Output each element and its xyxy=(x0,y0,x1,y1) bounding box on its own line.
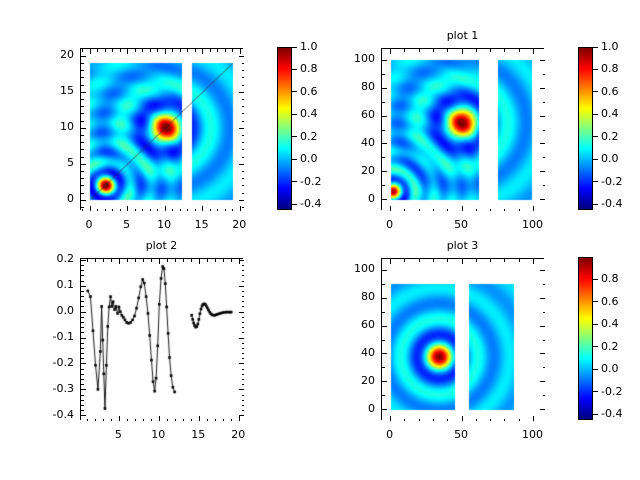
plot1-cbar-ticklabel: -0.2 xyxy=(601,175,622,188)
plot3-title: plot 3 xyxy=(381,239,544,252)
plot2-plot-area xyxy=(81,259,244,421)
plot2-ytick xyxy=(242,265,245,266)
plot2-ytick xyxy=(242,281,245,282)
plot0-xtick xyxy=(90,49,91,54)
plot2-ytick xyxy=(81,343,84,344)
plot1-xtick xyxy=(476,49,477,52)
plot0-xtick xyxy=(217,49,218,52)
plot1-axes xyxy=(381,48,544,210)
plot2-xtick xyxy=(103,419,104,422)
plot1-cbar-ticklabel: 1.0 xyxy=(601,40,619,53)
plot3-xtick xyxy=(390,416,391,421)
plot0-ytick xyxy=(242,85,245,86)
plot1-yticklabel: 80 xyxy=(333,80,375,93)
plot3-cbar-tick xyxy=(593,346,598,347)
plot2-ytick xyxy=(81,348,84,349)
plot0-xticklabel: 20 xyxy=(214,218,264,231)
plot2-ytick xyxy=(242,317,245,318)
plot0-cbar-ticklabel: 0.8 xyxy=(300,62,318,75)
plot3-yticklabel: 0 xyxy=(333,402,375,415)
plot2-ytick xyxy=(81,358,84,359)
plot1-xtick xyxy=(462,49,463,54)
plot3-ytick xyxy=(543,340,546,341)
plot3-ytick xyxy=(540,326,545,327)
plot0-cbar-ticklabel: 1.0 xyxy=(300,40,318,53)
plot1-plot-area xyxy=(382,49,545,211)
plot0-cbar-ticklabel: 0.6 xyxy=(300,85,318,98)
plot2-ytick xyxy=(81,374,84,375)
plot3-ytick xyxy=(382,312,385,313)
plot2-ytick xyxy=(239,312,244,313)
plot3-ytick xyxy=(540,409,545,410)
plot0-ytick xyxy=(242,193,245,194)
plot1-cbar-ticklabel: 0.2 xyxy=(601,130,619,143)
plot0-xtick xyxy=(82,209,83,212)
plot3-xtick xyxy=(533,259,534,264)
plot0-ytick xyxy=(81,63,84,64)
plot2-xtick xyxy=(199,416,200,421)
plot0-xtick xyxy=(82,49,83,52)
plot2-ytick xyxy=(242,306,245,307)
plot0-ytick xyxy=(239,200,244,201)
plot2-xtick xyxy=(231,259,232,262)
plot0-cbar-tick xyxy=(292,47,297,48)
plot1-xtick xyxy=(490,49,491,52)
plot1-xticklabel: 0 xyxy=(365,218,415,231)
plot2-xtick xyxy=(191,259,192,262)
plot2-ytick xyxy=(81,353,84,354)
plot0-cbar-ticklabel: 0.2 xyxy=(300,130,318,143)
plot1-ytick xyxy=(382,130,385,131)
plot2-ytick xyxy=(81,301,84,302)
plot2-ytick xyxy=(239,338,244,339)
plot2-xtick xyxy=(103,259,104,262)
plot0-xtick xyxy=(195,209,196,212)
plot0-xtick xyxy=(225,209,226,212)
plot1-cbar-ticklabel: 0.0 xyxy=(601,152,619,165)
plot3-ytick xyxy=(540,298,545,299)
plot0-xtick xyxy=(142,49,143,52)
plot2-ytick xyxy=(242,358,245,359)
plot2-xtick xyxy=(239,416,240,421)
plot2-ytick xyxy=(239,415,244,416)
plot1-ytick xyxy=(382,171,387,172)
plot2-ytick xyxy=(81,306,84,307)
plot2-xtick xyxy=(183,259,184,262)
plot0-xtick xyxy=(157,49,158,52)
plot1-xtick xyxy=(504,49,505,52)
plot2-ytick xyxy=(242,332,245,333)
plot1-cbar-tick xyxy=(593,69,598,70)
plot2-ytick xyxy=(242,374,245,375)
plot2-xtick xyxy=(207,419,208,422)
plot0-xtick xyxy=(187,49,188,52)
plot0-xtick xyxy=(202,206,203,211)
plot3-ytick xyxy=(382,353,387,354)
plot3-xtick xyxy=(447,419,448,422)
plot0-xtick xyxy=(120,49,121,52)
plot2-xticklabel: 20 xyxy=(213,428,263,441)
plot1-ytick xyxy=(540,116,545,117)
plot2-xtick xyxy=(111,259,112,262)
plot0-xtick xyxy=(105,49,106,52)
plot2-xtick xyxy=(87,259,88,262)
plot3-xticklabel: 0 xyxy=(365,428,415,441)
plot0-xtick xyxy=(195,49,196,52)
plot0-ytick xyxy=(242,70,245,71)
plot2-ytick xyxy=(81,389,86,390)
plot2-ytick xyxy=(81,379,84,380)
plot3-ytick xyxy=(543,367,546,368)
plot0-xtick xyxy=(90,206,91,211)
plot1-xtick xyxy=(504,209,505,212)
plot0-xtick xyxy=(112,49,113,52)
plot2-xtick xyxy=(151,419,152,422)
plot1-xtick xyxy=(404,209,405,212)
plot2-xtick xyxy=(143,419,144,422)
plot0-ytick xyxy=(242,99,245,100)
plot0-ytick xyxy=(242,157,245,158)
plot1-ytick xyxy=(540,143,545,144)
plot0-xtick xyxy=(240,206,241,211)
plot3-cbar-ticklabel: 0.6 xyxy=(601,295,619,308)
plot0-xtick xyxy=(150,209,151,212)
plot2-ytick xyxy=(81,400,84,401)
plot3-xtick xyxy=(504,259,505,262)
plot1-yticklabel: 0 xyxy=(333,192,375,205)
plot3-ytick xyxy=(382,409,387,410)
plot1-xtick xyxy=(390,206,391,211)
plot0-cbar-tick xyxy=(292,181,297,182)
plot0-yticklabel: 20 xyxy=(32,48,74,61)
plot0-xtick xyxy=(135,209,136,212)
plot3-ytick xyxy=(382,298,387,299)
plot0-xtick xyxy=(187,209,188,212)
plot0-ytick xyxy=(81,92,86,93)
plot2-yticklabel: -0.2 xyxy=(32,356,74,369)
plot0-cbar-tick xyxy=(292,159,297,160)
plot3-plot-area xyxy=(382,259,545,421)
plot2-yticklabel: 0.0 xyxy=(32,304,74,317)
plot2-xtick xyxy=(175,419,176,422)
plot2-xtick xyxy=(191,419,192,422)
plot0-ytick xyxy=(81,164,86,165)
plot0-xtick xyxy=(180,49,181,52)
plot0-ytick xyxy=(242,63,245,64)
plot1-xtick xyxy=(419,209,420,212)
plot1-xtick xyxy=(462,206,463,211)
plot2-xtick xyxy=(159,259,160,264)
plot0-xtick xyxy=(232,209,233,212)
plot0-cbar-tick xyxy=(292,204,297,205)
plot0-ytick xyxy=(81,56,86,57)
plot2-ytick xyxy=(242,405,245,406)
plot0-xtick xyxy=(142,209,143,212)
plot3-ytick xyxy=(382,367,385,368)
plot3-ytick xyxy=(543,284,546,285)
plot1-yticklabel: 40 xyxy=(333,136,375,149)
plot2-yticklabel: -0.4 xyxy=(32,408,74,421)
plot2-ytick xyxy=(242,384,245,385)
plot0-ytick xyxy=(239,92,244,93)
plot1-xtick xyxy=(533,206,534,211)
plot2-ytick xyxy=(242,275,245,276)
plot2-xtick xyxy=(127,259,128,262)
plot0-xtick xyxy=(165,206,166,211)
plot3-ytick xyxy=(382,340,385,341)
plot1-xtick xyxy=(490,209,491,212)
plot0-ytick xyxy=(242,77,245,78)
plot1-cbar-tick xyxy=(593,204,598,205)
plot0-ytick xyxy=(239,128,244,129)
plot0-ytick xyxy=(242,207,245,208)
plot1-xtick xyxy=(433,209,434,212)
plot3-xtick xyxy=(390,259,391,264)
plot2-ytick xyxy=(81,363,86,364)
plot1-ytick xyxy=(382,102,385,103)
plot0-cbar-ticklabel: -0.2 xyxy=(300,175,321,188)
plot2-ytick xyxy=(242,379,245,380)
plot1-xtick xyxy=(390,49,391,54)
plot0-ytick xyxy=(81,77,84,78)
plot0-ytick xyxy=(81,207,84,208)
plot2-ytick xyxy=(81,327,84,328)
plot0-xtick xyxy=(157,209,158,212)
plot2-ytick xyxy=(81,415,86,416)
plot2-xtick xyxy=(135,259,136,262)
plot0-cbar-ticklabel: 0.4 xyxy=(300,107,318,120)
plot1-colorbar xyxy=(578,47,593,210)
plot2-xtick xyxy=(167,259,168,262)
plot0-xtick xyxy=(135,49,136,52)
plot2-ytick xyxy=(242,301,245,302)
plot3-xtick xyxy=(490,259,491,262)
plot3-cbar-tick xyxy=(593,324,598,325)
plot0-xtick xyxy=(165,49,166,54)
plot0-ytick xyxy=(81,113,84,114)
plot2-xtick xyxy=(159,416,160,421)
plot0-ytick xyxy=(81,193,84,194)
plot1-xtick xyxy=(519,49,520,52)
plot0-xtick xyxy=(112,209,113,212)
plot2-ytick xyxy=(81,312,86,313)
plot2-xtick xyxy=(127,419,128,422)
plot3-cbar-ticklabel: 0.8 xyxy=(601,272,619,285)
plot2-ytick xyxy=(242,410,245,411)
plot1-xtick xyxy=(404,49,405,52)
plot1-ytick xyxy=(382,116,387,117)
plot0-ytick xyxy=(81,106,84,107)
plot2-ytick xyxy=(242,296,245,297)
plot2-xtick xyxy=(119,416,120,421)
plot3-xtick xyxy=(476,419,477,422)
plot2-ytick xyxy=(242,327,245,328)
plot3-xtick xyxy=(447,259,448,262)
plot0-ytick xyxy=(81,178,84,179)
plot0-xtick xyxy=(97,49,98,52)
plot0-ytick xyxy=(242,121,245,122)
plot1-ytick xyxy=(543,130,546,131)
plot2-xtick xyxy=(215,419,216,422)
plot0-cbar-tick xyxy=(292,114,297,115)
plot0-ytick xyxy=(242,185,245,186)
plot2-ytick xyxy=(81,410,84,411)
plot1-cbar-tick xyxy=(593,91,598,92)
plot1-ytick xyxy=(543,102,546,103)
plot0-cbar-tick xyxy=(292,136,297,137)
plot3-ytick xyxy=(382,381,387,382)
plot2-xtick xyxy=(231,419,232,422)
plot0-cbar-tick xyxy=(292,69,297,70)
plot2-ytick xyxy=(239,363,244,364)
plot0-xtick xyxy=(172,209,173,212)
plot2-ytick xyxy=(81,286,86,287)
plot2-xtick xyxy=(215,259,216,262)
plot1-cbar-tick xyxy=(593,159,598,160)
plot3-xtick xyxy=(462,259,463,264)
plot2-ytick xyxy=(81,291,84,292)
plot1-xtick xyxy=(433,49,434,52)
plot2-yticklabel: -0.3 xyxy=(32,382,74,395)
plot3-ytick xyxy=(382,270,387,271)
plot2-yticklabel: 0.2 xyxy=(32,252,74,265)
plot0-xtick xyxy=(172,49,173,52)
plot2-ytick xyxy=(81,265,84,266)
plot1-cbar-ticklabel: 0.6 xyxy=(601,85,619,98)
figure-canvas: 0510152005101520-0.4-0.20.00.20.40.60.81… xyxy=(0,0,640,480)
plot3-ytick xyxy=(540,381,545,382)
plot0-xtick xyxy=(120,209,121,212)
plot1-ytick xyxy=(382,157,385,158)
plot2-xtick xyxy=(223,259,224,262)
plot1-title: plot 1 xyxy=(381,29,544,42)
plot2-xtick xyxy=(223,419,224,422)
plot0-ytick xyxy=(81,200,86,201)
plot3-xtick xyxy=(433,259,434,262)
plot0-ytick xyxy=(242,113,245,114)
plot1-cbar-ticklabel: -0.4 xyxy=(601,197,622,210)
plot2-xtick xyxy=(175,259,176,262)
plot1-ytick xyxy=(540,88,545,89)
plot0-yticklabel: 0 xyxy=(32,192,74,205)
plot3-ytick xyxy=(382,395,385,396)
plot1-xtick xyxy=(419,49,420,52)
plot3-cbar-tick xyxy=(593,414,598,415)
plot1-ytick xyxy=(382,74,385,75)
plot0-xtick xyxy=(202,49,203,54)
plot3-colorbar-gradient xyxy=(579,258,592,419)
plot1-colorbar-gradient xyxy=(579,48,592,209)
plot1-yticklabel: 60 xyxy=(333,108,375,121)
plot2-ytick xyxy=(81,270,84,271)
plot0-ytick xyxy=(81,135,84,136)
plot3-ytick xyxy=(543,312,546,313)
plot1-ytick xyxy=(543,157,546,158)
plot2-ytick xyxy=(81,260,86,261)
plot2-axes xyxy=(80,258,243,420)
plot1-ytick xyxy=(543,74,546,75)
plot3-colorbar xyxy=(578,257,593,420)
plot2-xtick xyxy=(199,259,200,264)
plot3-ytick xyxy=(540,353,545,354)
plot3-cbar-tick xyxy=(593,369,598,370)
plot0-ytick xyxy=(239,164,244,165)
plot3-xtick xyxy=(404,419,405,422)
plot0-ytick xyxy=(81,157,84,158)
plot3-xtick xyxy=(504,419,505,422)
plot0-xtick xyxy=(150,49,151,52)
plot2-ytick xyxy=(242,353,245,354)
plot0-colorbar-gradient xyxy=(278,48,291,209)
plot2-ytick xyxy=(242,348,245,349)
plot2-ytick xyxy=(81,384,84,385)
plot3-xtick xyxy=(519,419,520,422)
plot1-ytick xyxy=(540,199,545,200)
plot2-ytick xyxy=(81,369,84,370)
plot1-ytick xyxy=(382,88,387,89)
plot2-ytick xyxy=(242,400,245,401)
plot1-xticklabel: 50 xyxy=(436,218,486,231)
plot2-ytick xyxy=(239,260,244,261)
plot2-xtick xyxy=(143,259,144,262)
plot1-xtick xyxy=(533,49,534,54)
plot0-xtick xyxy=(105,209,106,212)
plot0-xtick xyxy=(217,209,218,212)
plot0-ytick xyxy=(81,85,84,86)
plot3-yticklabel: 20 xyxy=(333,374,375,387)
plot2-ytick xyxy=(242,270,245,271)
plot3-ytick xyxy=(382,326,387,327)
plot2-ytick xyxy=(81,281,84,282)
plot0-xtick xyxy=(232,49,233,52)
plot3-xtick xyxy=(404,259,405,262)
plot1-ytick xyxy=(382,185,385,186)
plot1-ytick xyxy=(540,60,545,61)
plot3-ytick xyxy=(540,270,545,271)
plot3-cbar-ticklabel: 0.0 xyxy=(601,362,619,375)
plot2-ytick xyxy=(81,317,84,318)
plot2-xtick xyxy=(135,419,136,422)
plot2-ytick xyxy=(242,343,245,344)
plot0-xtick xyxy=(97,209,98,212)
plot3-xtick xyxy=(462,416,463,421)
plot2-ytick xyxy=(81,275,84,276)
plot0-ytick xyxy=(242,171,245,172)
plot0-ytick xyxy=(81,99,84,100)
plot0-ytick xyxy=(242,106,245,107)
plot1-xtick xyxy=(476,209,477,212)
plot0-cbar-tick xyxy=(292,91,297,92)
plot0-axes xyxy=(80,48,243,210)
plot1-ytick xyxy=(382,143,387,144)
plot0-xtick xyxy=(127,206,128,211)
plot3-xtick xyxy=(419,419,420,422)
plot0-cbar-ticklabel: 0.0 xyxy=(300,152,318,165)
plot2-ytick xyxy=(242,322,245,323)
plot0-xtick xyxy=(180,209,181,212)
plot0-xtick xyxy=(210,209,211,212)
plot2-ytick xyxy=(81,405,84,406)
plot2-xtick xyxy=(95,419,96,422)
plot1-cbar-ticklabel: 0.8 xyxy=(601,62,619,75)
plot2-ytick xyxy=(81,322,84,323)
plot2-ytick xyxy=(239,389,244,390)
plot1-cbar-tick xyxy=(593,47,598,48)
plot1-cbar-tick xyxy=(593,181,598,182)
plot0-yticklabel: 15 xyxy=(32,84,74,97)
plot0-ytick xyxy=(242,135,245,136)
plot1-xtick xyxy=(447,209,448,212)
